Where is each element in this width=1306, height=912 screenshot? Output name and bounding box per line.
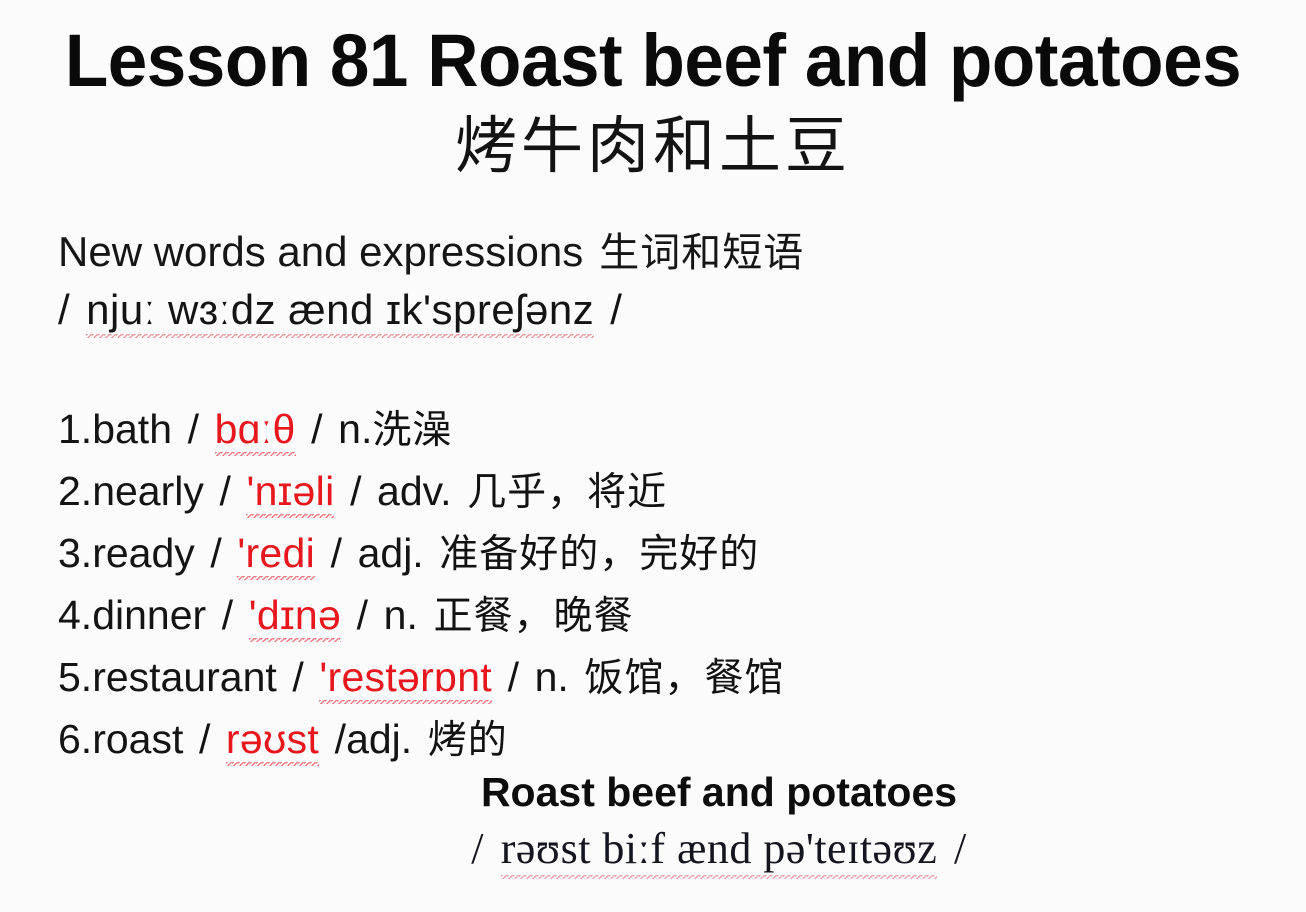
word-index: 2. bbox=[58, 468, 92, 514]
word-ipa: 'restərɒnt bbox=[319, 654, 492, 704]
phrase-ipa: /rəʊst biːf ænd pə'teɪtəʊz/ bbox=[0, 820, 1306, 878]
word-index: 6. bbox=[58, 716, 92, 762]
word-index: 4. bbox=[58, 592, 92, 638]
word-english: nearly bbox=[92, 468, 204, 514]
word-entry: 2.nearly/'nɪəli/adv.几乎，将近 bbox=[58, 461, 1258, 523]
word-entry: 5.restaurant/'restərɒnt/n.饭馆，餐馆 bbox=[58, 647, 1258, 709]
ipa-close-slash: / bbox=[954, 824, 967, 873]
word-ipa: 'nɪəli bbox=[246, 468, 334, 518]
word-ipa: bɑːθ bbox=[215, 406, 296, 456]
ipa-open-slash: / bbox=[471, 824, 484, 873]
ipa-close-slash: / bbox=[350, 468, 361, 514]
ipa-open-slash: / bbox=[222, 592, 233, 638]
word-chinese: 几乎，将近 bbox=[467, 470, 667, 515]
ipa-open-slash: / bbox=[219, 468, 230, 514]
new-words-heading-chinese: 生词和短语 bbox=[599, 230, 804, 276]
new-words-heading: New words and expressions生词和短语 bbox=[58, 224, 804, 281]
word-chinese: 正餐，晚餐 bbox=[433, 594, 633, 639]
word-index: 5. bbox=[58, 654, 92, 700]
slide-canvas: Lesson 81 Roast beef and potatoes 烤牛肉和土豆… bbox=[0, 0, 1306, 912]
phrase-title: Roast beef and potatoes bbox=[0, 766, 1306, 818]
word-entry: 3.ready/'redi/adj.准备好的，完好的 bbox=[58, 523, 1258, 585]
word-entry: 4.dinner/'dɪnə/n.正餐，晚餐 bbox=[58, 585, 1258, 647]
word-chinese: 洗澡 bbox=[372, 408, 452, 453]
ipa-close-slash: / bbox=[508, 654, 519, 700]
word-chinese: 烤的 bbox=[428, 718, 508, 763]
ipa-close-slash: / bbox=[331, 530, 342, 576]
lesson-title-english: Lesson 81 Roast beef and potatoes bbox=[26, 16, 1280, 106]
phrase-title-text: Roast beef and potatoes bbox=[481, 766, 957, 818]
word-part-of-speech: n. bbox=[384, 592, 418, 638]
ipa-close-slash: / bbox=[335, 716, 346, 762]
word-index: 1. bbox=[58, 406, 92, 452]
new-words-list: 1.bath/bɑːθ/n.洗澡 2.nearly/'nɪəli/adv.几乎，… bbox=[58, 399, 1258, 771]
ipa-close-slash: / bbox=[610, 286, 622, 333]
word-english: bath bbox=[92, 406, 172, 452]
ipa-open-slash: / bbox=[188, 406, 199, 452]
new-words-heading-english: New words and expressions bbox=[58, 228, 583, 275]
word-ipa: 'redi bbox=[237, 530, 315, 580]
word-chinese: 准备好的，完好的 bbox=[439, 532, 759, 577]
word-entry: 6.roast/rəʊst/adj.烤的 bbox=[58, 709, 1258, 771]
word-part-of-speech: n. bbox=[535, 654, 569, 700]
word-part-of-speech: adj. bbox=[358, 530, 424, 576]
word-english: restaurant bbox=[92, 654, 277, 700]
word-part-of-speech: adj. bbox=[346, 716, 412, 762]
word-entry: 1.bath/bɑːθ/n.洗澡 bbox=[58, 399, 1258, 461]
new-words-heading-ipa: /njuː wɜːdz ænd ɪk'spreʃənz/ bbox=[58, 282, 622, 338]
word-english: dinner bbox=[92, 592, 206, 638]
ipa-open-slash: / bbox=[292, 654, 303, 700]
ipa-open-slash: / bbox=[58, 286, 70, 333]
ipa-close-slash: / bbox=[311, 406, 322, 452]
ipa-transcription: njuː wɜːdz ænd ɪk'spreʃənz bbox=[86, 286, 594, 338]
word-chinese: 饭馆，餐馆 bbox=[584, 656, 784, 701]
ipa-open-slash: / bbox=[210, 530, 221, 576]
word-ipa: 'dɪnə bbox=[249, 592, 341, 642]
ipa-open-slash: / bbox=[199, 716, 210, 762]
word-part-of-speech: adv. bbox=[377, 468, 451, 514]
lesson-title-chinese: 烤牛肉和土豆 bbox=[0, 104, 1306, 188]
word-english: roast bbox=[92, 716, 183, 762]
phrase-ipa-inner: /rəʊst biːf ænd pə'teɪtəʊz/ bbox=[471, 820, 966, 878]
word-part-of-speech: n. bbox=[338, 406, 372, 452]
ipa-close-slash: / bbox=[357, 592, 368, 638]
ipa-transcription: rəʊst biːf ænd pə'teɪtəʊz bbox=[501, 824, 938, 879]
word-ipa: rəʊst bbox=[226, 716, 319, 766]
word-index: 3. bbox=[58, 530, 92, 576]
word-english: ready bbox=[92, 530, 195, 576]
